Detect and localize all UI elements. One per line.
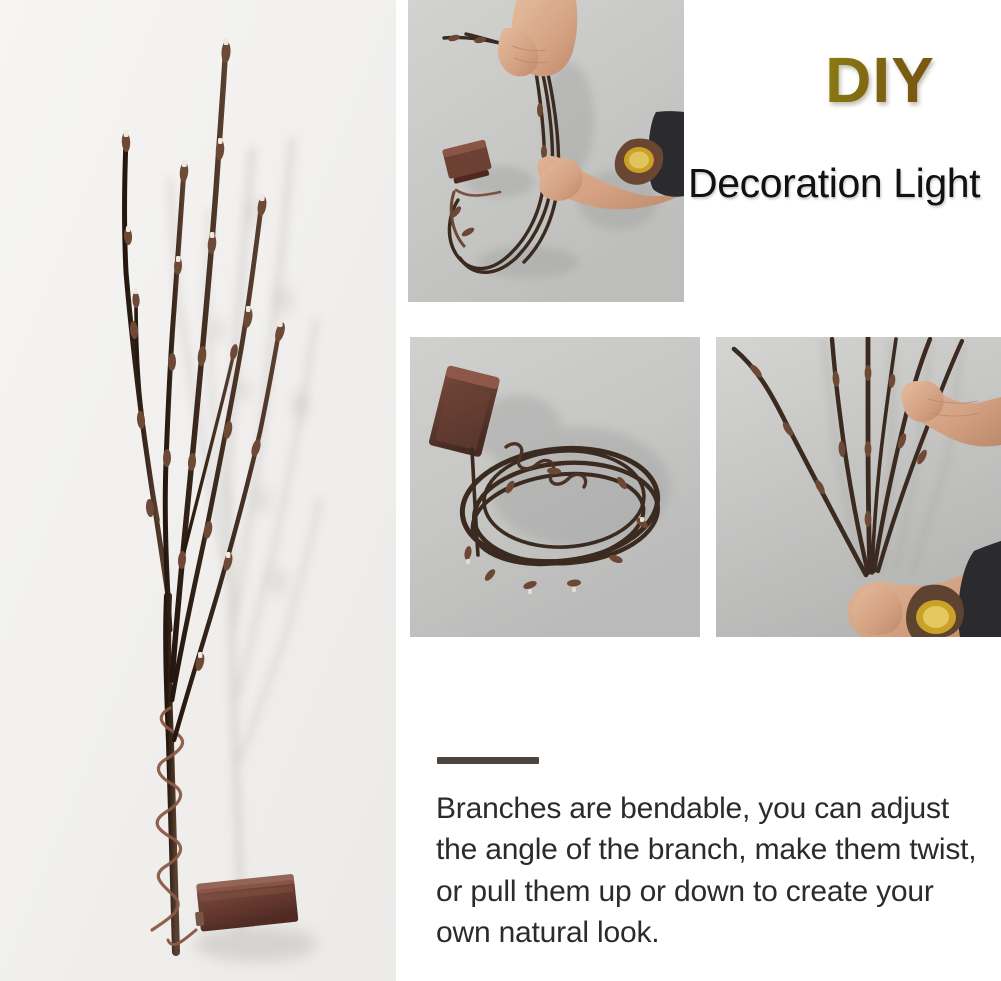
hero-photo-graphic — [0, 0, 396, 981]
hero-product-photo — [0, 0, 396, 981]
page-subtitle: Decoration Light — [688, 163, 980, 204]
infographic-page: DIY Decoration Light Branches are bendab… — [0, 0, 1001, 981]
step-1-graphic — [408, 0, 684, 302]
page-title-diy: DIY — [760, 48, 1000, 112]
caption-divider — [437, 757, 539, 764]
step-1-unwind-photo — [408, 0, 684, 302]
step-3-spread-branches-photo — [716, 337, 1001, 637]
step-2-graphic — [410, 337, 700, 637]
step-2-coiled-product-photo — [410, 337, 700, 637]
step-3-graphic — [716, 337, 1001, 637]
caption-text: Branches are bendable, you can adjust th… — [436, 788, 981, 954]
